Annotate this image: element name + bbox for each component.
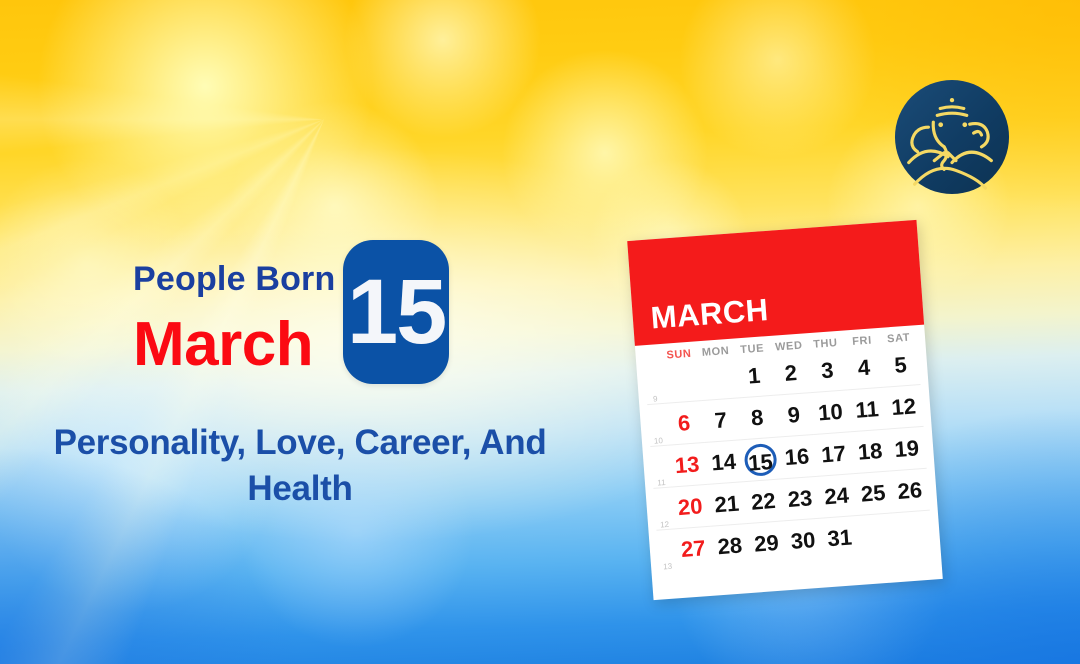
calendar-day[interactable]: 8 xyxy=(737,395,777,440)
calendar-body: SUN MON TUE WED THU FRI SAT 912345106789… xyxy=(635,325,941,573)
calendar-day[interactable]: 19 xyxy=(887,426,927,471)
calendar-day-empty xyxy=(893,510,933,554)
calendar-day[interactable]: 17 xyxy=(814,432,854,477)
calendar-day[interactable]: 23 xyxy=(780,476,820,521)
calendar-day[interactable]: 3 xyxy=(808,349,848,393)
day-badge-number: 15 xyxy=(347,266,445,358)
promo-banner: People Born on March 15 Personality, Lov… xyxy=(0,0,1080,664)
calendar-card: MARCH SUN MON TUE WED THU FRI SAT 912 xyxy=(627,220,943,600)
calendar-day-empty xyxy=(698,357,738,401)
headline-block: People Born on March 15 Personality, Lov… xyxy=(0,262,600,511)
calendar-day[interactable]: 28 xyxy=(710,524,750,568)
calendar-day[interactable]: 26 xyxy=(890,468,930,513)
calendar-day[interactable]: 21 xyxy=(707,482,747,527)
calendar-day[interactable]: 11 xyxy=(847,387,887,432)
day-badge: 15 xyxy=(343,240,449,384)
calendar-day[interactable]: 1 xyxy=(734,354,774,398)
calendar-day-empty xyxy=(856,513,896,557)
selected-day-circle: 15 xyxy=(743,442,777,476)
calendar-day[interactable]: 7 xyxy=(701,398,741,443)
subtitle-text: Personality, Love, Career, And Health xyxy=(0,420,600,511)
calendar-header: MARCH xyxy=(627,220,924,346)
calendar-day[interactable]: 6 xyxy=(664,401,704,446)
calendar-day[interactable]: 4 xyxy=(844,346,884,390)
calendar-grid: SUN MON TUE WED THU FRI SAT 912345106789… xyxy=(643,331,932,571)
calendar-day[interactable]: 13 xyxy=(667,443,707,488)
calendar-month-label: MARCH xyxy=(650,292,770,337)
month-text: March xyxy=(133,314,313,376)
calendar-day[interactable]: 20 xyxy=(670,484,710,529)
calendar-day[interactable]: 12 xyxy=(884,385,924,430)
calendar-day[interactable]: 14 xyxy=(704,440,744,485)
calendar-day[interactable]: 5 xyxy=(881,343,921,387)
calendar-day[interactable]: 24 xyxy=(817,474,857,519)
calendar-day[interactable]: 15 xyxy=(740,437,780,482)
calendar-day[interactable]: 27 xyxy=(673,526,713,570)
ganesha-logo[interactable] xyxy=(893,78,1011,196)
calendar-day[interactable]: 22 xyxy=(744,479,784,524)
calendar-day[interactable]: 16 xyxy=(777,434,817,479)
calendar-day[interactable]: 25 xyxy=(853,471,893,516)
calendar-day[interactable]: 10 xyxy=(811,390,851,435)
calendar-day[interactable]: 31 xyxy=(820,516,860,560)
calendar-day[interactable]: 9 xyxy=(774,393,814,438)
calendar-day[interactable]: 29 xyxy=(747,521,787,565)
calendar-day[interactable]: 18 xyxy=(850,429,890,474)
calendar-day[interactable]: 30 xyxy=(783,518,823,562)
calendar-day-empty xyxy=(661,359,701,403)
calendar-day[interactable]: 2 xyxy=(771,351,811,395)
month-and-day-row: March 15 xyxy=(133,306,600,384)
